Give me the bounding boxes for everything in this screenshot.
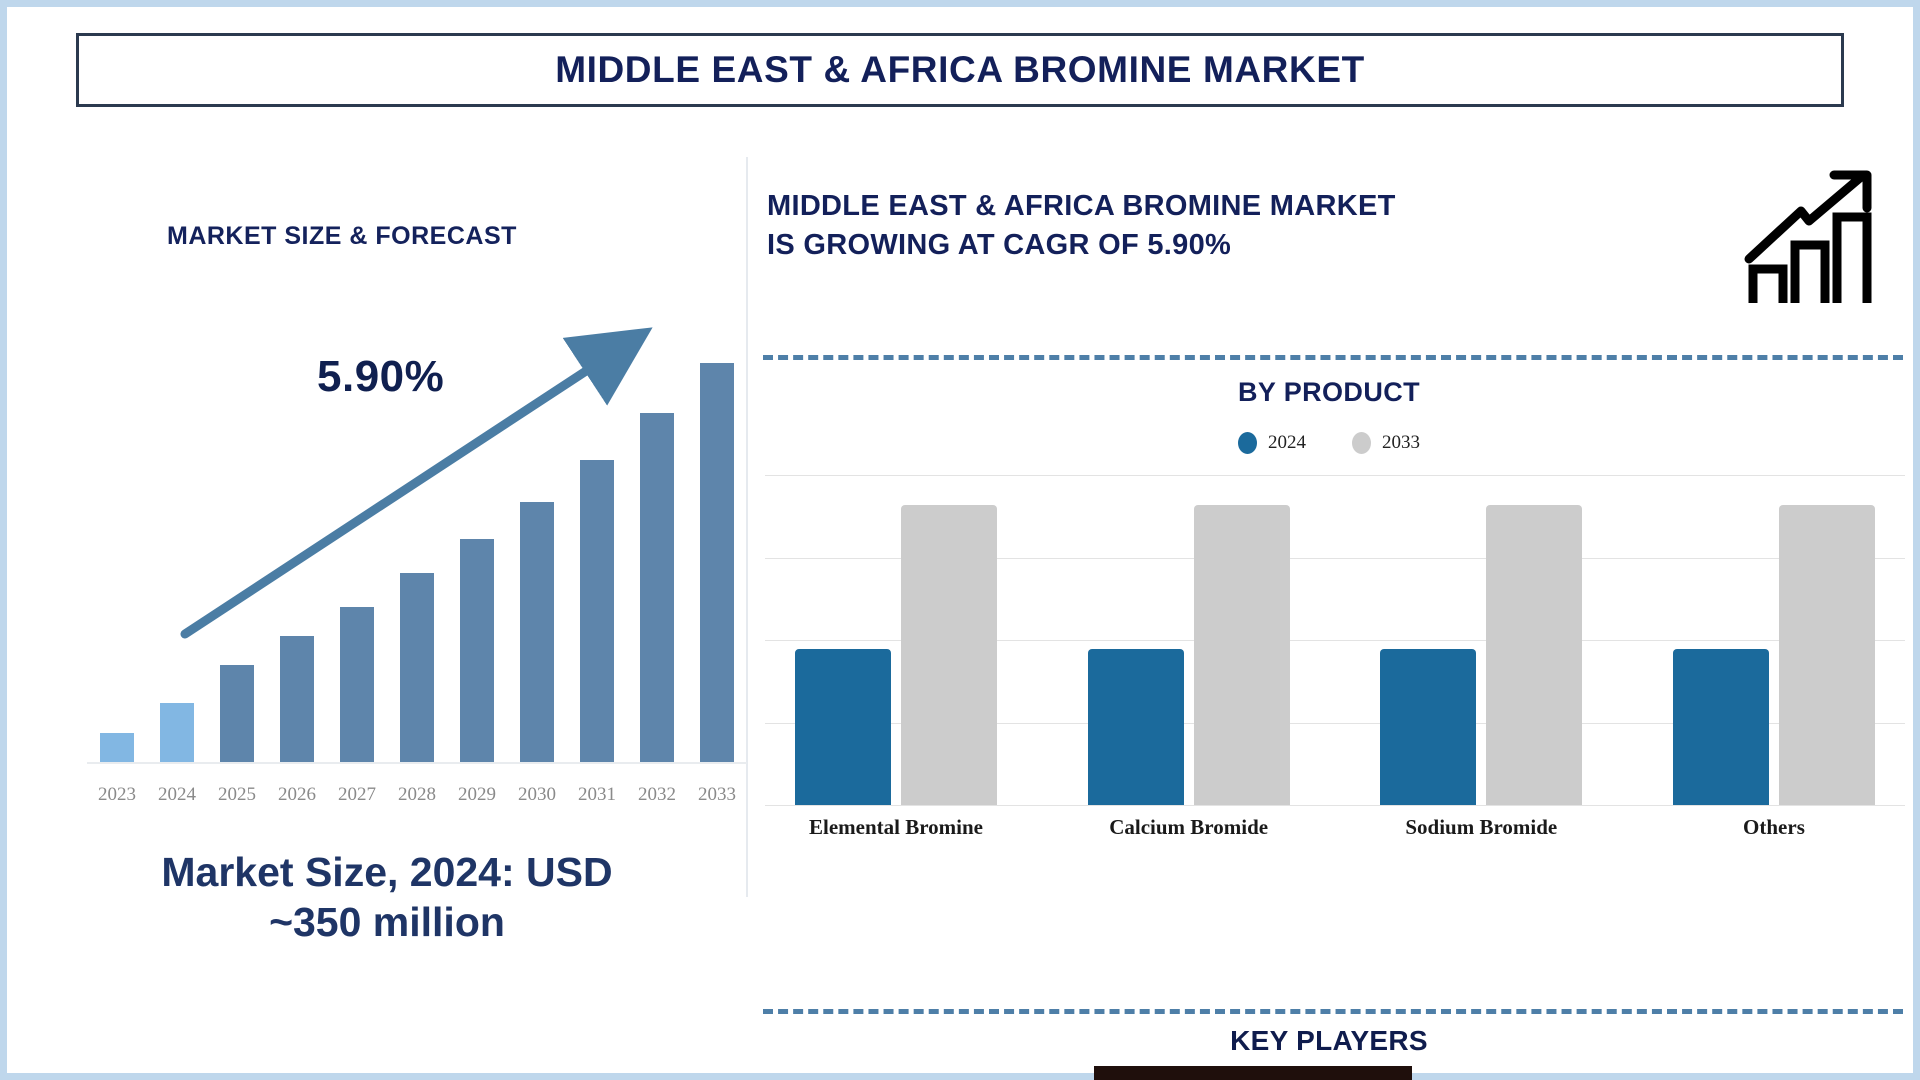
legend-item-2024[interactable]: 2024	[1238, 432, 1306, 454]
key-players-title: KEY PLAYERS	[759, 1025, 1899, 1057]
year-label: 2032	[627, 784, 687, 806]
by-product-category-labels: Elemental BromineCalcium BromideSodium B…	[765, 815, 1905, 840]
year-label: 2023	[87, 784, 147, 806]
forecast-bar-2033	[687, 342, 747, 762]
forecast-bar-2026	[267, 342, 327, 762]
forecast-bar-2032	[627, 342, 687, 762]
year-label: 2033	[687, 784, 747, 806]
bar-group-elemental-bromine	[771, 475, 1021, 805]
market-size-value: Market Size, 2024: USD ~350 million	[57, 847, 717, 947]
forecast-bar-2029	[447, 342, 507, 762]
key-player-logo-jordan-bromine: برومين الأردن JORDAN BROMINE	[1094, 1066, 1412, 1080]
forecast-year-labels: 2023202420252026202720282029203020312032…	[87, 784, 747, 806]
forecast-bar-2030	[507, 342, 567, 762]
bar-group-calcium-bromide	[1064, 475, 1314, 805]
bar-2033	[1779, 505, 1875, 805]
forecast-bar-2024	[147, 342, 207, 762]
legend-swatch-icon	[1352, 432, 1371, 454]
year-label: 2026	[267, 784, 327, 806]
by-product-legend: 20242033	[759, 432, 1899, 454]
bar-2024	[795, 649, 891, 805]
forecast-bar-2023	[87, 342, 147, 762]
bar-2024	[1088, 649, 1184, 805]
bar	[400, 573, 434, 762]
legend-item-2033[interactable]: 2033	[1352, 432, 1420, 454]
market-size-forecast-chart: 2023202420252026202720282029203020312032…	[57, 342, 737, 842]
jordan-bromine-diamond-icon	[1104, 1071, 1204, 1080]
dashed-separator-bottom	[763, 1009, 1903, 1014]
bar	[280, 636, 314, 762]
year-label: 2031	[567, 784, 627, 806]
bar	[580, 460, 614, 762]
bar	[520, 502, 554, 762]
category-label: Calcium Bromide	[1064, 815, 1314, 840]
bar	[340, 607, 374, 762]
year-label: 2024	[147, 784, 207, 806]
legend-swatch-icon	[1238, 432, 1257, 454]
bar-group-sodium-bromide	[1356, 475, 1606, 805]
bar	[700, 363, 734, 762]
legend-label: 2024	[1268, 432, 1306, 454]
bar	[160, 703, 194, 762]
by-product-title: BY PRODUCT	[759, 377, 1899, 408]
category-label: Others	[1649, 815, 1899, 840]
key-players-row: ICL برومين الأردن JORD	[759, 1065, 1899, 1080]
by-product-bars	[765, 475, 1905, 805]
bar-2033	[1194, 505, 1290, 805]
forecast-bar-2027	[327, 342, 387, 762]
gridline	[765, 805, 1905, 806]
bar-2033	[1486, 505, 1582, 805]
page-title-box: MIDDLE EAST & AFRICA BROMINE MARKET	[76, 33, 1844, 107]
bar	[460, 539, 494, 762]
market-size-panel: MARKET SIZE & FORECAST 5.90% 20232024202…	[27, 147, 745, 1057]
market-size-value-line1: Market Size, 2024: USD	[57, 847, 717, 897]
bar-2024	[1380, 649, 1476, 805]
dashed-separator-top	[763, 355, 1903, 360]
year-label: 2030	[507, 784, 567, 806]
bar	[220, 665, 254, 762]
market-size-heading: MARKET SIZE & FORECAST	[167, 222, 517, 251]
bar	[100, 733, 134, 762]
category-label: Elemental Bromine	[771, 815, 1021, 840]
legend-label: 2033	[1382, 432, 1420, 454]
bar	[640, 413, 674, 762]
growth-headline-line1: MIDDLE EAST & AFRICA BROMINE MARKET	[767, 187, 1567, 226]
right-panel: MIDDLE EAST & AFRICA BROMINE MARKET IS G…	[759, 147, 1907, 1057]
bar-2033	[901, 505, 997, 805]
year-label: 2029	[447, 784, 507, 806]
chart-baseline	[87, 762, 747, 764]
growth-headline-line2: IS GROWING AT CAGR OF 5.90%	[767, 226, 1567, 265]
year-label: 2027	[327, 784, 387, 806]
forecast-bar-2028	[387, 342, 447, 762]
bar-2024	[1673, 649, 1769, 805]
category-label: Sodium Bromide	[1356, 815, 1606, 840]
year-label: 2028	[387, 784, 447, 806]
growth-headline: MIDDLE EAST & AFRICA BROMINE MARKET IS G…	[767, 187, 1567, 265]
page-title: MIDDLE EAST & AFRICA BROMINE MARKET	[555, 49, 1365, 91]
by-product-chart	[765, 475, 1905, 805]
bar-group-others	[1649, 475, 1899, 805]
infographic-page: MIDDLE EAST & AFRICA BROMINE MARKET MARK…	[0, 0, 1920, 1080]
market-size-value-line2: ~350 million	[57, 897, 717, 947]
forecast-bars	[87, 342, 747, 762]
year-label: 2025	[207, 784, 267, 806]
forecast-bar-2031	[567, 342, 627, 762]
forecast-bar-2025	[207, 342, 267, 762]
growth-bar-chart-arrow-icon	[1739, 167, 1879, 307]
